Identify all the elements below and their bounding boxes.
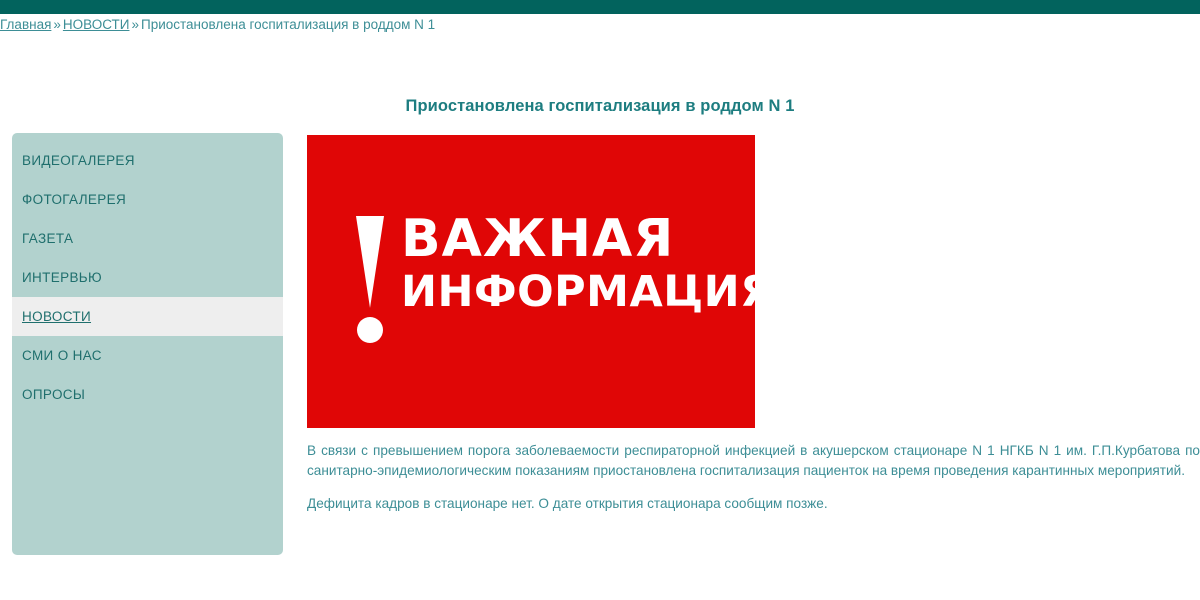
banner-text: ВАЖНАЯ ИНФОРМАЦИЯ <box>401 211 755 317</box>
sidebar-item-newspaper[interactable]: ГАЗЕТА <box>12 219 283 258</box>
breadcrumb-separator-2: » <box>129 17 141 32</box>
sidebar-item-news[interactable]: НОВОСТИ <box>12 297 283 336</box>
article-paragraph-1: В связи с превышением порога заболеваемо… <box>307 441 1200 480</box>
top-header-bar <box>0 0 1200 14</box>
banner-inner: ВАЖНАЯ ИНФОРМАЦИЯ <box>353 211 755 351</box>
breadcrumb-separator-1: » <box>51 17 63 32</box>
breadcrumb-section-link[interactable]: НОВОСТИ <box>63 17 130 32</box>
sidebar-item-label: ГАЗЕТА <box>22 231 73 246</box>
banner-line-1: ВАЖНАЯ <box>401 211 755 267</box>
sidebar-item-media-about-us[interactable]: СМИ О НАС <box>12 336 283 375</box>
exclamation-mark-icon <box>353 211 387 351</box>
main-content: ВАЖНАЯ ИНФОРМАЦИЯ В связи с превышением … <box>307 135 1200 528</box>
banner-line-2: ИНФОРМАЦИЯ <box>401 267 755 317</box>
exclamation-stem <box>356 216 384 308</box>
page-title: Приостановлена госпитализация в роддом N… <box>0 97 1200 116</box>
sidebar-nav: ВИДЕОГАЛЕРЕЯ ФОТОГАЛЕРЕЯ ГАЗЕТА ИНТЕРВЬЮ… <box>12 133 283 555</box>
sidebar-item-photogallery[interactable]: ФОТОГАЛЕРЕЯ <box>12 180 283 219</box>
breadcrumb: Главная»НОВОСТИ»Приостановлена госпитали… <box>0 14 1200 36</box>
sidebar-item-label: ИНТЕРВЬЮ <box>22 270 102 285</box>
sidebar-item-label: СМИ О НАС <box>22 348 102 363</box>
breadcrumb-current: Приостановлена госпитализация в роддом N… <box>141 17 435 32</box>
exclamation-dot <box>357 317 383 343</box>
sidebar-item-surveys[interactable]: ОПРОСЫ <box>12 375 283 414</box>
sidebar-item-label: НОВОСТИ <box>22 309 91 324</box>
sidebar-item-interview[interactable]: ИНТЕРВЬЮ <box>12 258 283 297</box>
sidebar-item-label: ФОТОГАЛЕРЕЯ <box>22 192 126 207</box>
sidebar-item-label: ОПРОСЫ <box>22 387 85 402</box>
article-body: В связи с превышением порога заболеваемо… <box>307 441 1200 514</box>
sidebar-item-label: ВИДЕОГАЛЕРЕЯ <box>22 153 135 168</box>
important-information-banner: ВАЖНАЯ ИНФОРМАЦИЯ <box>307 135 755 428</box>
article-paragraph-2: Дефицита кадров в стационаре нет. О дате… <box>307 494 1200 514</box>
sidebar-item-videogallery[interactable]: ВИДЕОГАЛЕРЕЯ <box>12 141 283 180</box>
breadcrumb-home-link[interactable]: Главная <box>0 17 51 32</box>
